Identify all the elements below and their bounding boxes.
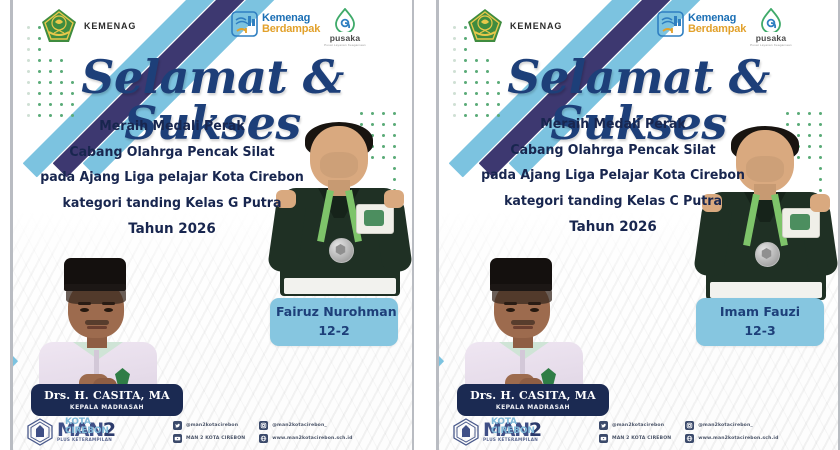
social-instagram-handle: @man2kotacirebon_ (272, 423, 327, 428)
body-line-4: kategori tanding Kelas C Putra (474, 195, 753, 209)
body-line-2: Cabang Olahrga Pencak Silat (474, 144, 753, 158)
school-city-line2: CIREBON (491, 427, 535, 436)
twitter-icon (599, 421, 608, 430)
twitter-icon (173, 421, 182, 430)
body-line-1: Meraih Medali Perak (474, 118, 753, 132)
social-instagram[interactable]: @man2kotacirebon_ (685, 421, 778, 430)
social-twitter-handle: @man2kotacirebon (186, 423, 238, 428)
social-website-handle: www.man2kotacirebon.sch.id (698, 436, 778, 441)
athlete-class: 12-3 (702, 323, 818, 338)
athlete-name-badge: Imam Fauzi 12-3 (696, 298, 824, 346)
kemenag-berdampak-mark-icon (231, 11, 258, 37)
body-line-3: pada Ajang Liga pelajar Kota Cirebon (39, 171, 305, 185)
athlete-name: Fairuz Nurohman (276, 305, 392, 318)
social-website-handle: www.man2kotacirebon.sch.id (272, 436, 352, 441)
pusaka-droplet-icon (335, 8, 355, 32)
kemenag-pentagon-emblem-icon (41, 8, 77, 44)
athlete-name: Imam Fauzi (702, 305, 818, 318)
social-youtube[interactable]: MAN 2 KOTA CIREBON (173, 434, 245, 443)
social-youtube-handle: MAN 2 KOTA CIREBON (186, 436, 245, 441)
school-seal-icon (453, 418, 479, 446)
social-instagram[interactable]: @man2kotacirebon_ (259, 421, 352, 430)
school-city: KOTA CIREBON (491, 418, 535, 436)
youtube-icon (173, 434, 182, 443)
social-website[interactable]: www.man2kotacirebon.sch.id (259, 434, 352, 443)
social-links: @man2kotacirebon MAN 2 KOTA CIREBON (599, 421, 779, 443)
school-tagline: PLUS KETERAMPILAN (483, 438, 541, 442)
kemenag-lockup: KEMENAG (41, 8, 136, 44)
poster-left: KEMENAG Kemenag Berdampak (10, 0, 414, 450)
poster-gap (414, 0, 422, 450)
kemenag-berdampak-lockup: Kemenag Berdampak (657, 11, 746, 37)
body-line-4: kategori tanding Kelas G Putra (39, 197, 305, 211)
berdampak-line2: Berdampak (262, 24, 320, 35)
poster-body-lines: Meraih Medali Perak Cabang Olahrga Penca… (463, 118, 763, 235)
social-twitter[interactable]: @man2kotacirebon (173, 421, 245, 430)
school-seal-icon (27, 418, 53, 446)
pusaka-lockup: pusaka Pusat Layanan Keagamaan (323, 8, 367, 47)
principal-name: Drs. H. CASITA, MA (461, 389, 605, 402)
kemenag-wordmark: KEMENAG (84, 21, 136, 31)
pusaka-lockup: pusaka Pusat Layanan Keagamaan (749, 8, 793, 47)
body-line-year: Tahun 2026 (39, 222, 305, 237)
social-links: @man2kotacirebon MAN 2 KOTA CIREBON (173, 421, 353, 443)
instagram-icon (259, 421, 268, 430)
poster-header: KEMENAG Kemenag Berdampak (13, 0, 412, 52)
berdampak-line2: Berdampak (688, 24, 746, 35)
youtube-icon (599, 434, 608, 443)
social-twitter[interactable]: @man2kotacirebon (599, 421, 671, 430)
body-line-1: Meraih Medali Perak (39, 120, 305, 134)
school-city: KOTA CIREBON (65, 418, 109, 436)
kemenag-berdampak-mark-icon (657, 11, 684, 37)
kemenag-berdampak-lockup: Kemenag Berdampak (231, 11, 320, 37)
website-icon (685, 434, 694, 443)
poster-footer: MAN2 PLUS KETERAMPILAN KOTA CIREBON @man… (13, 408, 412, 448)
social-instagram-handle: @man2kotacirebon_ (698, 423, 753, 428)
body-line-year: Tahun 2026 (474, 220, 753, 235)
athlete-class: 12-2 (276, 323, 392, 338)
kemenag-lockup: KEMENAG (467, 8, 562, 44)
kemenag-wordmark: KEMENAG (510, 21, 562, 31)
pusaka-wordmark: pusaka (323, 33, 367, 43)
poster-footer: MAN2 PLUS KETERAMPILAN KOTA CIREBON @man… (439, 408, 838, 448)
pusaka-subtext: Pusat Layanan Keagamaan (749, 43, 793, 47)
poster-pair-canvas: KEMENAG Kemenag Berdampak (0, 0, 840, 450)
social-youtube[interactable]: MAN 2 KOTA CIREBON (599, 434, 671, 443)
school-tagline: PLUS KETERAMPILAN (57, 438, 115, 442)
pusaka-subtext: Pusat Layanan Keagamaan (323, 43, 367, 47)
athlete-name-badge: Fairuz Nurohman 12-2 (270, 298, 398, 346)
body-line-3: pada Ajang Liga Pelajar Kota Cirebon (474, 169, 753, 183)
poster-right: KEMENAG Kemenag Berdampak (436, 0, 840, 450)
poster-body-lines: Meraih Medali Perak Cabang Olahrga Penca… (29, 120, 315, 237)
social-youtube-handle: MAN 2 KOTA CIREBON (612, 436, 671, 441)
principal-name: Drs. H. CASITA, MA (35, 389, 179, 402)
website-icon (259, 434, 268, 443)
social-twitter-handle: @man2kotacirebon (612, 423, 664, 428)
social-website[interactable]: www.man2kotacirebon.sch.id (685, 434, 778, 443)
body-line-2: Cabang Olahrga Pencak Silat (39, 146, 305, 160)
instagram-icon (685, 421, 694, 430)
pusaka-wordmark: pusaka (749, 33, 793, 43)
poster-header: KEMENAG Kemenag Berdampak (439, 0, 838, 52)
school-city-line2: CIREBON (65, 427, 109, 436)
kemenag-pentagon-emblem-icon (467, 8, 503, 44)
pusaka-droplet-icon (761, 8, 781, 32)
